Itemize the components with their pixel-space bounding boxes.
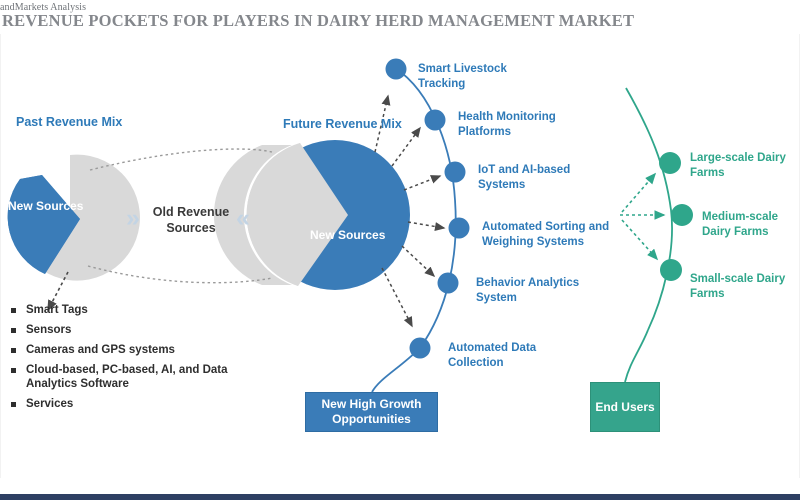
past-revenue-bullet-list: Smart Tags Sensors Cameras and GPS syste… [10,303,260,417]
past-pie-label-text: New Sources [8,199,83,213]
node-label-automated-data-collection: Automated Data Collection [448,341,556,371]
list-item: Services [10,397,260,411]
node-dot-automated-data [410,338,431,359]
list-item: Smart Tags [10,303,260,317]
node-dot-health-monitoring [425,110,446,131]
list-item: Cloud-based, PC-based, AI, and Data Anal… [10,363,260,391]
node-dot-small-scale [660,259,682,281]
node-dot-behavior-analytics [438,273,459,294]
node-dot-medium-scale [671,204,693,226]
node-label-large-scale-dairy-farms: Large-scale Dairy Farms [690,151,794,181]
node-label-automated-sorting-weighing: Automated Sorting and Weighing Systems [482,220,618,250]
node-label-health-monitoring-platforms: Health Monitoring Platforms [458,110,576,140]
old-revenue-sources-label: Old Revenue Sources [146,204,236,236]
future-pie-new-sources-label: New Sources [310,228,380,242]
end-users-box[interactable]: End Users [590,382,660,432]
new-high-growth-opportunities-box[interactable]: New High Growth Opportunities [305,392,438,432]
future-pie-label-text: New Sources [310,228,385,242]
infographic-canvas: andMarkets Analysis REVENUE POCKETS FOR … [0,0,800,500]
chevron-right-icon: » [126,206,140,231]
node-dot-sorting-weighing [449,218,470,239]
chevron-left-icon: « [236,206,250,231]
past-revenue-heading: Past Revenue Mix [16,115,122,129]
list-item: Cameras and GPS systems [10,343,260,357]
left-border [0,34,1,478]
node-label-smart-livestock-tracking: Smart Livestock Tracking [418,62,528,92]
node-label-behavior-analytics-system: Behavior Analytics System [476,276,600,306]
future-revenue-heading: Future Revenue Mix [283,117,402,131]
node-label-medium-scale-dairy-farms: Medium-scale Dairy Farms [702,210,798,240]
node-label-small-scale-dairy-farms: Small-scale Dairy Farms [690,272,800,302]
footer-bar [0,494,800,500]
node-label-iot-ai-systems: IoT and AI-based Systems [478,163,588,193]
node-dot-iot-ai [445,162,466,183]
list-item: Sensors [10,323,260,337]
node-dot-large-scale [659,152,681,174]
header-divider [0,33,800,34]
past-pie-new-sources-label: New Sources [8,199,78,213]
page-title: REVENUE POCKETS FOR PLAYERS IN DAIRY HER… [2,11,634,31]
node-dot-smart-livestock [386,59,407,80]
past-revenue-pie [8,155,140,281]
